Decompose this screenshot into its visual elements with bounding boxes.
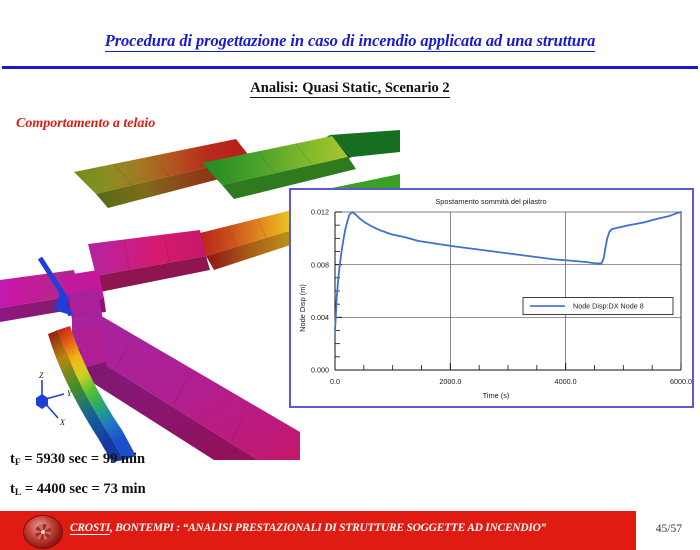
page-title-text: Procedura di progettazione in caso di in… [105,31,596,52]
header-divider [2,66,698,69]
chart-x-tick: 0.0 [330,377,340,386]
tl-subscript: L [15,488,21,498]
chart-y-tick: 0.008 [311,260,329,269]
tf-value: = 5930 sec = 99 min [21,451,145,467]
chart-x-tick: 4000.0 [555,377,577,386]
slide-subtitle-text: Analisi: Quasi Static, Scenario 2 [250,80,449,98]
chart-y-tick: 0.012 [311,208,329,217]
tl-value: = 4400 sec = 73 min [21,481,145,497]
chart-y-axis-label: Node Disp (m) [298,284,307,332]
slide-subtitle: Analisi: Quasi Static, Scenario 2 [0,80,700,97]
footer-page-wrap: 45/57 [0,512,700,550]
chart-legend-label: Node Disp:DX Node 8 [573,302,644,311]
tf-subscript: F [15,458,21,468]
result-line-tf: tF = 5930 sec = 99 min [10,451,145,468]
slide-canvas: Procedura di progettazione in caso di in… [0,0,700,550]
axis-label-x: X [59,418,66,427]
axis-label-z: Z [39,371,44,380]
displacement-chart-panel: Spostamento sommità del pilastro 0.0000.… [289,188,694,408]
beam-center-crimson [88,230,210,292]
result-line-tl: tL = 4400 sec = 73 min [10,481,146,498]
chart-x-axis-label: Time (s) [483,391,510,400]
chart-x-tick: 2000.0 [439,377,461,386]
chart-x-tick: 6000.0 [670,377,692,386]
chart-title: Spostamento sommità del pilastro [435,197,546,206]
page-number: 45/57 [656,523,682,535]
page-title: Procedura di progettazione in caso di in… [0,31,700,51]
chart-y-tick: 0.000 [311,366,329,375]
chart-y-tick: 0.004 [311,313,329,322]
